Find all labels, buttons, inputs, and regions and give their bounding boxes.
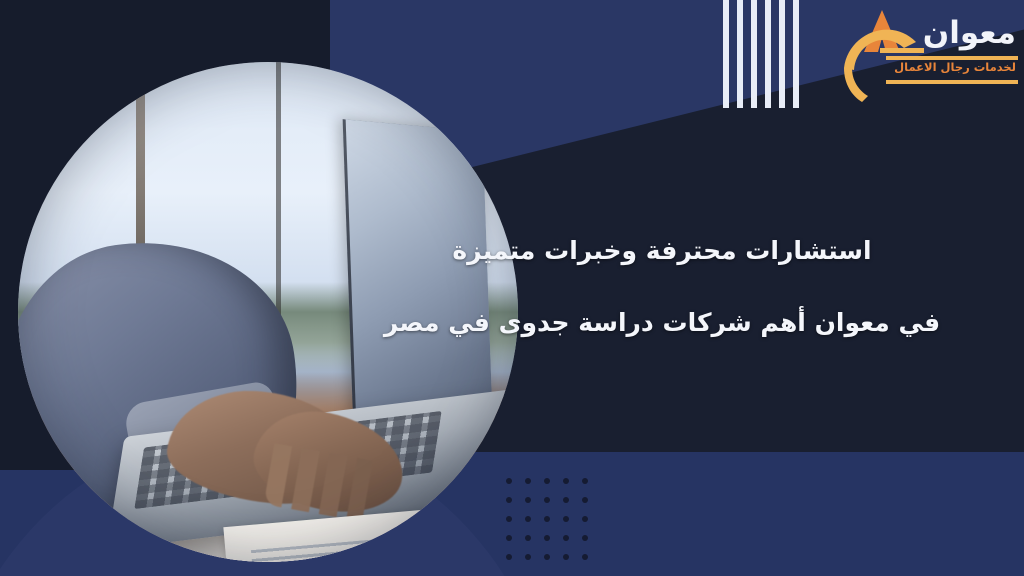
decorative-vertical-bars — [723, 0, 799, 108]
grid-dot — [563, 554, 569, 560]
brand-logo[interactable]: معوان لخدمات رجال الاعمال — [838, 4, 1020, 104]
headline-line-2: في معوان أهم شركات دراسة جدوى في مصر — [352, 310, 972, 336]
grid-dot — [582, 497, 588, 503]
grid-dot — [563, 535, 569, 541]
promo-banner: معوان لخدمات رجال الاعمال استشارات محترف… — [0, 0, 1024, 576]
grid-dot — [544, 497, 550, 503]
grid-dot — [525, 516, 531, 522]
vertical-bar — [793, 0, 799, 108]
grid-dot — [506, 516, 512, 522]
grid-dot — [544, 535, 550, 541]
grid-dot — [582, 478, 588, 484]
logo-rule-bottom — [886, 80, 1018, 84]
decorative-dot-grid — [506, 478, 588, 560]
vertical-bar — [737, 0, 743, 108]
headline-block: استشارات محترفة وخبرات متميزة في معوان أ… — [352, 238, 972, 337]
grid-dot — [563, 516, 569, 522]
grid-dot — [582, 516, 588, 522]
logo-tagline: لخدمات رجال الاعمال — [894, 62, 1016, 74]
grid-dot — [506, 554, 512, 560]
grid-dot — [525, 554, 531, 560]
vertical-bar — [765, 0, 771, 108]
vertical-bar — [723, 0, 729, 108]
grid-dot — [544, 554, 550, 560]
grid-dot — [525, 535, 531, 541]
vertical-bar — [779, 0, 785, 108]
grid-dot — [525, 478, 531, 484]
grid-dot — [506, 535, 512, 541]
grid-dot — [506, 478, 512, 484]
grid-dot — [582, 535, 588, 541]
grid-dot — [563, 478, 569, 484]
grid-dot — [582, 554, 588, 560]
grid-dot — [563, 497, 569, 503]
vertical-bar — [751, 0, 757, 108]
logo-brand-name: معوان — [923, 18, 1016, 49]
grid-dot — [544, 478, 550, 484]
grid-dot — [506, 497, 512, 503]
grid-dot — [544, 516, 550, 522]
grid-dot — [525, 497, 531, 503]
headline-line-1: استشارات محترفة وخبرات متميزة — [352, 238, 972, 264]
